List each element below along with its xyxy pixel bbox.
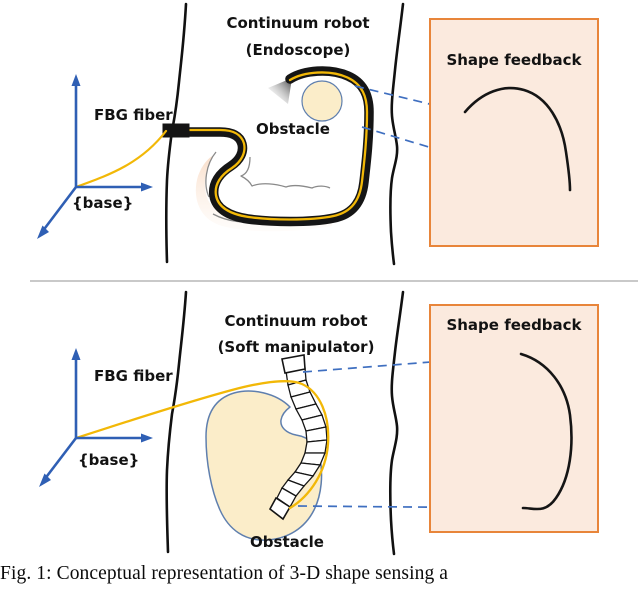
figure-canvas: Continuum robot (Endoscope) FBG fiber {b… (0, 0, 640, 596)
fbg-fiber-external-top (76, 131, 166, 187)
body-outline-right (390, 4, 403, 264)
shape-feedback-title-bottom: Shape feedback (446, 316, 582, 334)
shape-feedback-box (430, 305, 598, 532)
robot-title-line1-bottom: Continuum robot (224, 312, 367, 330)
obstacle-circle (302, 81, 342, 121)
endoscope-panel: Continuum robot (Endoscope) FBG fiber {b… (37, 4, 598, 264)
fbg-fiber-label-top: FBG fiber (94, 106, 173, 124)
robot-title-line2-bottom: (Soft manipulator) (218, 338, 375, 356)
body-outline-right (390, 292, 403, 554)
obstacle-label-bottom: Obstacle (250, 533, 324, 551)
shape-feedback-title-top: Shape feedback (446, 51, 582, 69)
base-frame-label-bottom: {base} (78, 451, 139, 469)
tissue-wall-fold (241, 157, 330, 188)
base-frame-label-top: {base} (72, 194, 133, 212)
body-outline-left (167, 292, 186, 552)
robot-title-line1-top: Continuum robot (226, 14, 369, 32)
coordinate-frame-icon (37, 74, 153, 239)
figure-root: Continuum robot (Endoscope) FBG fiber {b… (0, 0, 640, 596)
soft-manipulator-panel: Continuum robot (Soft manipulator) FBG f… (39, 292, 598, 554)
figure-caption: Fig. 1: Conceptual representation of 3-D… (0, 563, 640, 585)
robot-title-line2-top: (Endoscope) (246, 41, 351, 59)
fbg-fiber-label-bottom: FBG fiber (94, 367, 173, 385)
obstacle-label-top: Obstacle (256, 120, 330, 138)
